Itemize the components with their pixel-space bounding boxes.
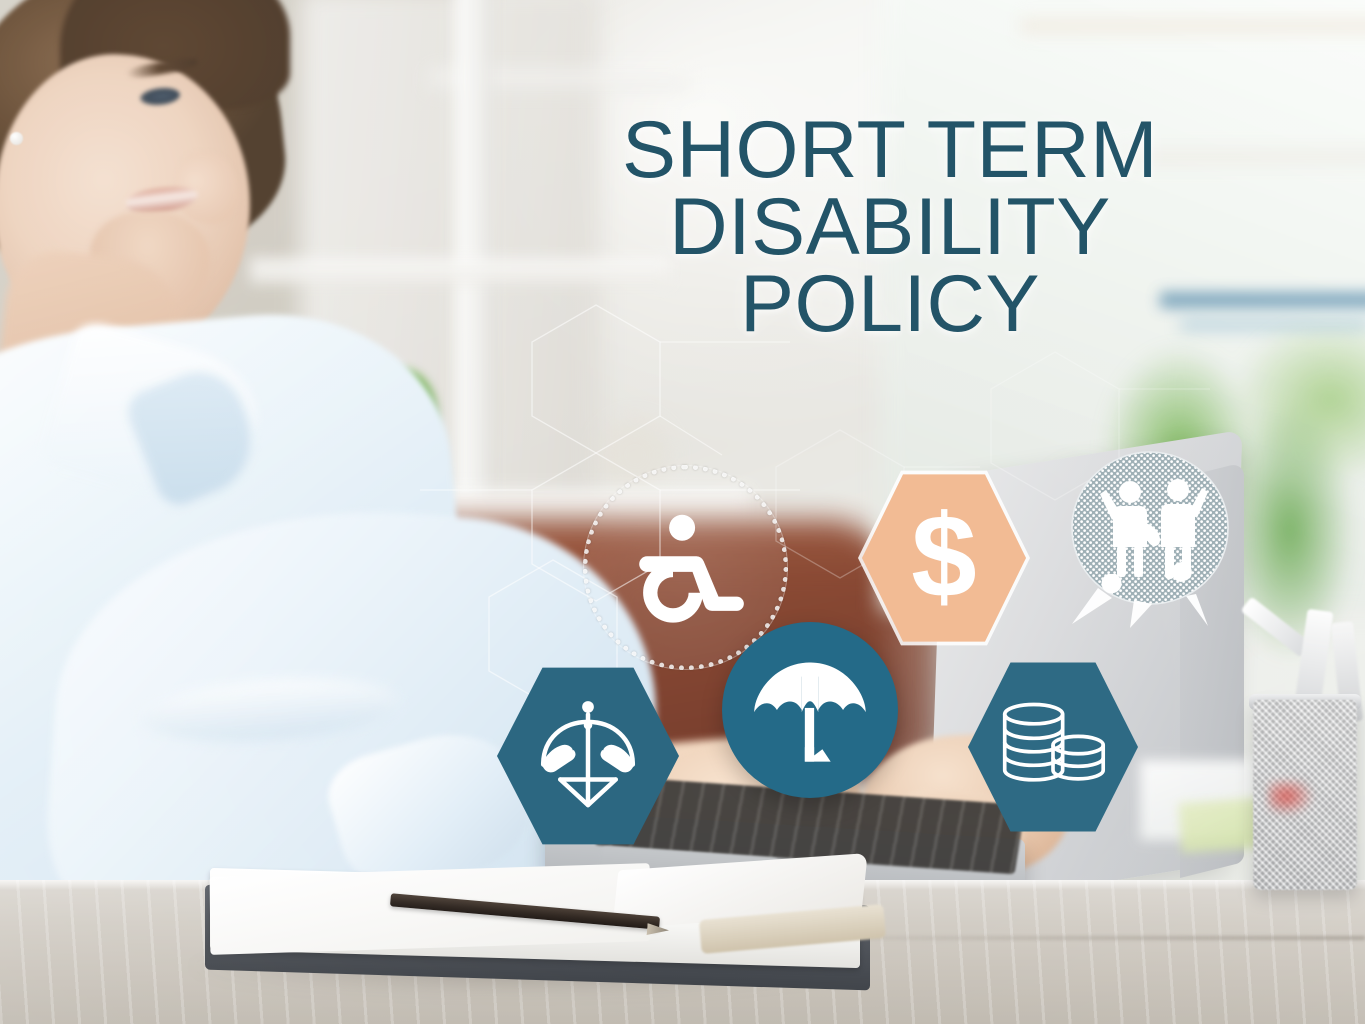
badge-umbrella[interactable]: Insurance protection umbrella bbox=[722, 622, 898, 798]
title-line-2: DISABILITY bbox=[600, 189, 1180, 266]
badge-people-support[interactable]: People helping / support bbox=[1068, 452, 1232, 624]
people-support-icon bbox=[1068, 448, 1232, 628]
protecting-hands-icon bbox=[524, 692, 652, 820]
dollar-sign-icon: $ bbox=[895, 498, 993, 618]
coin-stack-icon bbox=[997, 698, 1109, 796]
umbrella-icon bbox=[748, 648, 872, 772]
poster-canvas: SHORT TERM DISABILITY POLICY Wheelchair … bbox=[0, 0, 1365, 1024]
page-title: SHORT TERM DISABILITY POLICY bbox=[600, 112, 1180, 343]
graphic-overlay: SHORT TERM DISABILITY POLICY Wheelchair … bbox=[0, 0, 1365, 1024]
title-line-1: SHORT TERM bbox=[600, 112, 1180, 189]
dollar-glyph: $ bbox=[911, 498, 976, 618]
title-line-3: POLICY bbox=[600, 266, 1180, 343]
